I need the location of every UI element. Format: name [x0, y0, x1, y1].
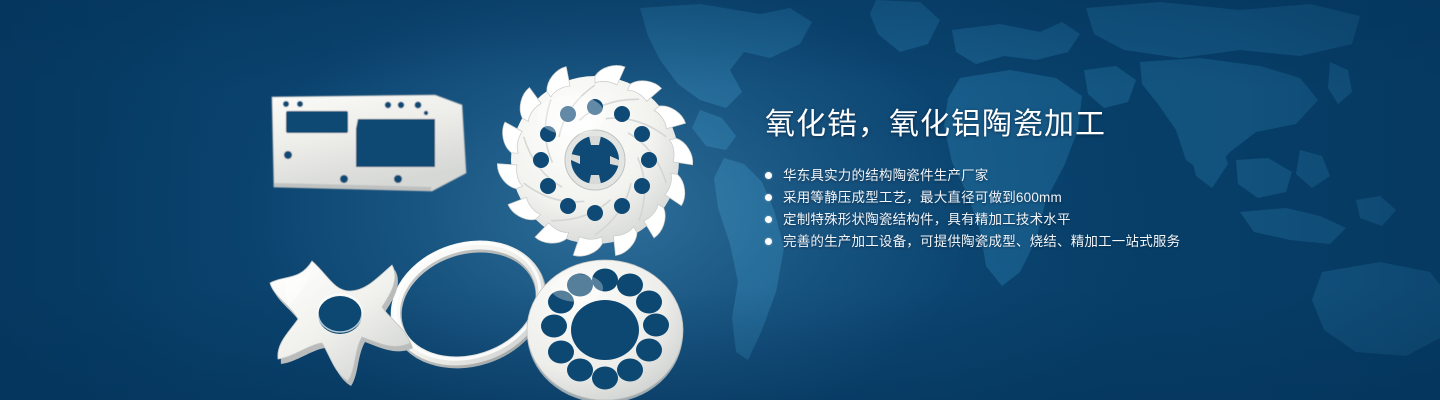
ceramic-machined-plate-image	[272, 95, 466, 191]
feature-text: 采用等静压成型工艺，最大直径可做到600mm	[783, 190, 1062, 205]
feature-text: 完善的生产加工设备，可提供陶瓷成型、烧结、精加工一站式服务	[783, 234, 1180, 249]
bullet-dot-icon	[765, 216, 772, 223]
feature-text: 华东具实力的结构陶瓷件生产厂家	[783, 168, 989, 183]
list-item: 采用等静压成型工艺，最大直径可做到600mm	[765, 190, 1385, 205]
feature-list: 华东具实力的结构陶瓷件生产厂家 采用等静压成型工艺，最大直径可做到600mm 定…	[765, 168, 1385, 249]
banner-headline: 氧化锆，氧化铝陶瓷加工	[765, 108, 1385, 141]
bullet-dot-icon	[765, 238, 772, 245]
product-image-group	[230, 45, 700, 385]
ceramic-impeller-disc-image	[496, 65, 694, 257]
list-item: 完善的生产加工设备，可提供陶瓷成型、烧结、精加工一站式服务	[765, 234, 1385, 249]
feature-text: 定制特殊形状陶瓷结构件，具有精加工技术水平	[783, 212, 1071, 227]
banner-text-column: 氧化锆，氧化铝陶瓷加工 华东具实力的结构陶瓷件生产厂家 采用等静压成型工艺，最大…	[765, 108, 1385, 256]
ceramic-perforated-ring-image	[527, 260, 683, 400]
bullet-dot-icon	[765, 194, 772, 201]
ceramic-cross-vane-image	[270, 261, 413, 386]
list-item: 定制特殊形状陶瓷结构件，具有精加工技术水平	[765, 212, 1385, 227]
list-item: 华东具实力的结构陶瓷件生产厂家	[765, 168, 1385, 183]
promo-banner: 氧化锆，氧化铝陶瓷加工 华东具实力的结构陶瓷件生产厂家 采用等静压成型工艺，最大…	[0, 0, 1440, 400]
bullet-dot-icon	[765, 172, 772, 179]
ceramic-thin-ring-image	[380, 225, 557, 381]
